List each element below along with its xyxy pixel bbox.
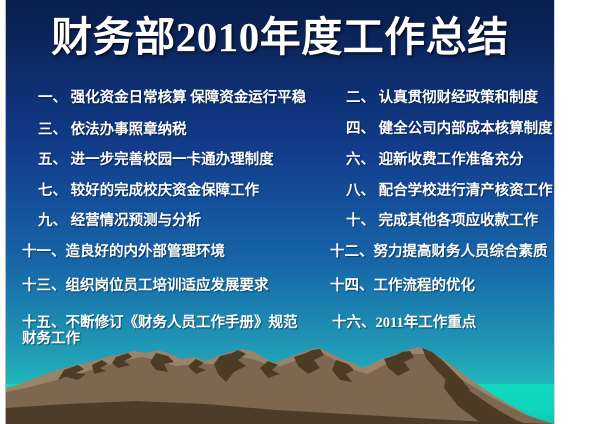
list-item: 四、 健全公司内部成本核算制度 [346,121,553,137]
list-item: 十五、不断修订《财务人员工作手册》规范财务工作 [22,315,304,347]
page-canvas: 财务部2010年度工作总结 一、 强化资金日常核算 保障资金运行平稳 三、 依法… [0,0,600,424]
list-item: 十四、工作流程的优化 [330,278,475,294]
list-item: 十二、努力提高财务人员综合素质 [330,244,548,260]
slide-frame: 财务部2010年度工作总结 一、 强化资金日常核算 保障资金运行平稳 三、 依法… [5,0,555,424]
list-item: 十三、组织岗位员工培训适应发展要求 [22,278,269,294]
page-title: 财务部2010年度工作总结 [51,17,509,58]
agenda-body: 一、 强化资金日常核算 保障资金运行平稳 三、 依法办事照章纳税 五、 进一步完… [6,82,554,350]
list-item: 八、 配合学校进行清产核资工作 [346,183,553,199]
agenda-column-left: 一、 强化资金日常核算 保障资金运行平稳 三、 依法办事照章纳税 五、 进一步完… [16,82,316,350]
list-item: 十六、2011年工作重点 [332,315,476,331]
presentation-slide: 财务部2010年度工作总结 一、 强化资金日常核算 保障资金运行平稳 三、 依法… [6,0,554,424]
list-item: 六、 迎新收费工作准备充分 [346,152,524,168]
list-item: 七、 较好的完成校庆资金保障工作 [38,183,259,199]
list-item: 二、 认真贯彻财经政策和制度 [346,90,538,106]
list-item: 九、 经营情况预测与分析 [38,213,201,229]
list-item: 十一、造良好的内外部管理环境 [22,244,225,260]
agenda-column-right: 二、 认真贯彻财经政策和制度 四、 健全公司内部成本核算制度 六、 迎新收费工作… [316,82,554,350]
title-band: 财务部2010年度工作总结 [6,8,554,66]
list-item: 十、 完成其他各项应收款工作 [346,213,538,229]
list-item: 五、 进一步完善校园一卡通办理制度 [38,152,274,168]
list-item: 三、 依法办事照章纳税 [38,122,187,138]
mountain-range-graphic [6,344,554,424]
list-item: 一、 强化资金日常核算 保障资金运行平稳 [38,90,306,106]
